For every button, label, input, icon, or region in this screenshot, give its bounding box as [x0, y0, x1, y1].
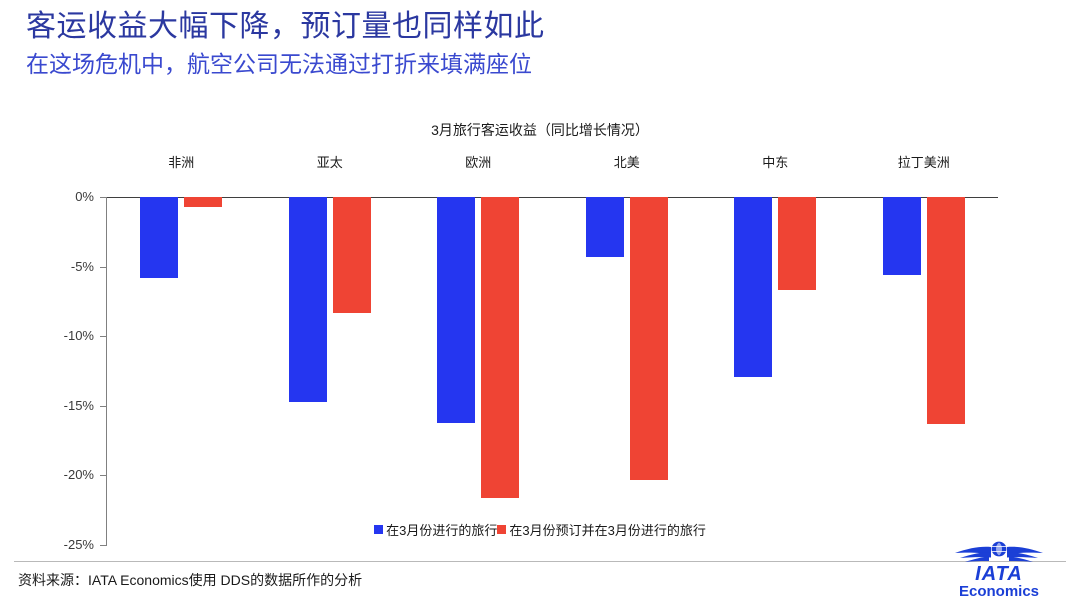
legend-label: 在3月份预订并在3月份进行的旅行 [509, 523, 705, 538]
y-axis-tick [100, 267, 107, 268]
slide-header: 客运收益大幅下降，预订量也同样如此 在这场危机中，航空公司无法通过打折来填满座位 [26, 8, 1046, 80]
legend-swatch-icon [374, 525, 383, 534]
bar-booked-and-travelled[interactable] [778, 197, 816, 290]
bar-booked-and-travelled[interactable] [630, 197, 668, 480]
page-title: 客运收益大幅下降，预订量也同样如此 [26, 8, 1046, 46]
category-label: 亚太 [270, 152, 390, 171]
legend-label: 在3月份进行的旅行 [386, 523, 497, 538]
bar-travel[interactable] [883, 197, 921, 275]
y-axis-tick-label: -15% [24, 398, 94, 413]
y-axis-tick-label: -20% [24, 467, 94, 482]
bar-travel[interactable] [586, 197, 624, 257]
chart-title: 3月旅行客运收益（同比增长情况） [0, 120, 1080, 140]
category-label: 欧洲 [418, 152, 538, 171]
y-axis-tick-label: -10% [24, 328, 94, 343]
legend-swatch-icon [497, 525, 506, 534]
logo-subtext: Economics [938, 583, 1060, 600]
y-axis-line [106, 197, 107, 545]
category-label: 拉丁美洲 [864, 152, 984, 171]
y-axis-tick-label: -25% [24, 537, 94, 552]
x-axis-line [106, 197, 998, 198]
bar-travel[interactable] [289, 197, 327, 402]
page-subtitle: 在这场危机中，航空公司无法通过打折来填满座位 [26, 48, 1046, 80]
source-note: 资料来源：IATA Economics使用 DDS的数据所作的分析 [18, 570, 362, 590]
logo-wordmark: IATA [938, 565, 1060, 583]
chart-legend: 在3月份进行的旅行在3月份预订并在3月份进行的旅行 [0, 520, 1080, 539]
y-axis-tick [100, 197, 107, 198]
bar-booked-and-travelled[interactable] [481, 197, 519, 498]
y-axis-tick-label: -5% [24, 259, 94, 274]
footer-divider [14, 561, 1066, 562]
y-axis-tick [100, 336, 107, 337]
bar-travel[interactable] [734, 197, 772, 377]
category-label: 非洲 [121, 152, 241, 171]
bar-travel[interactable] [140, 197, 178, 278]
bar-travel[interactable] [437, 197, 475, 423]
iata-economics-logo: IATA Economics [938, 540, 1060, 602]
y-axis-tick-label: 0% [24, 189, 94, 204]
bar-booked-and-travelled[interactable] [184, 197, 222, 207]
legend-item[interactable]: 在3月份预订并在3月份进行的旅行 [497, 520, 705, 539]
bar-booked-and-travelled[interactable] [333, 197, 371, 313]
bar-chart: 3月旅行客运收益（同比增长情况） 0%-5%-10%-15%-20%-25% 非… [0, 112, 1080, 552]
legend-item[interactable]: 在3月份进行的旅行 [374, 520, 497, 539]
y-axis-tick [100, 406, 107, 407]
y-axis-tick [100, 475, 107, 476]
y-axis-tick [100, 545, 107, 546]
category-label: 北美 [567, 152, 687, 171]
category-label: 中东 [715, 152, 835, 171]
bar-booked-and-travelled[interactable] [927, 197, 965, 424]
